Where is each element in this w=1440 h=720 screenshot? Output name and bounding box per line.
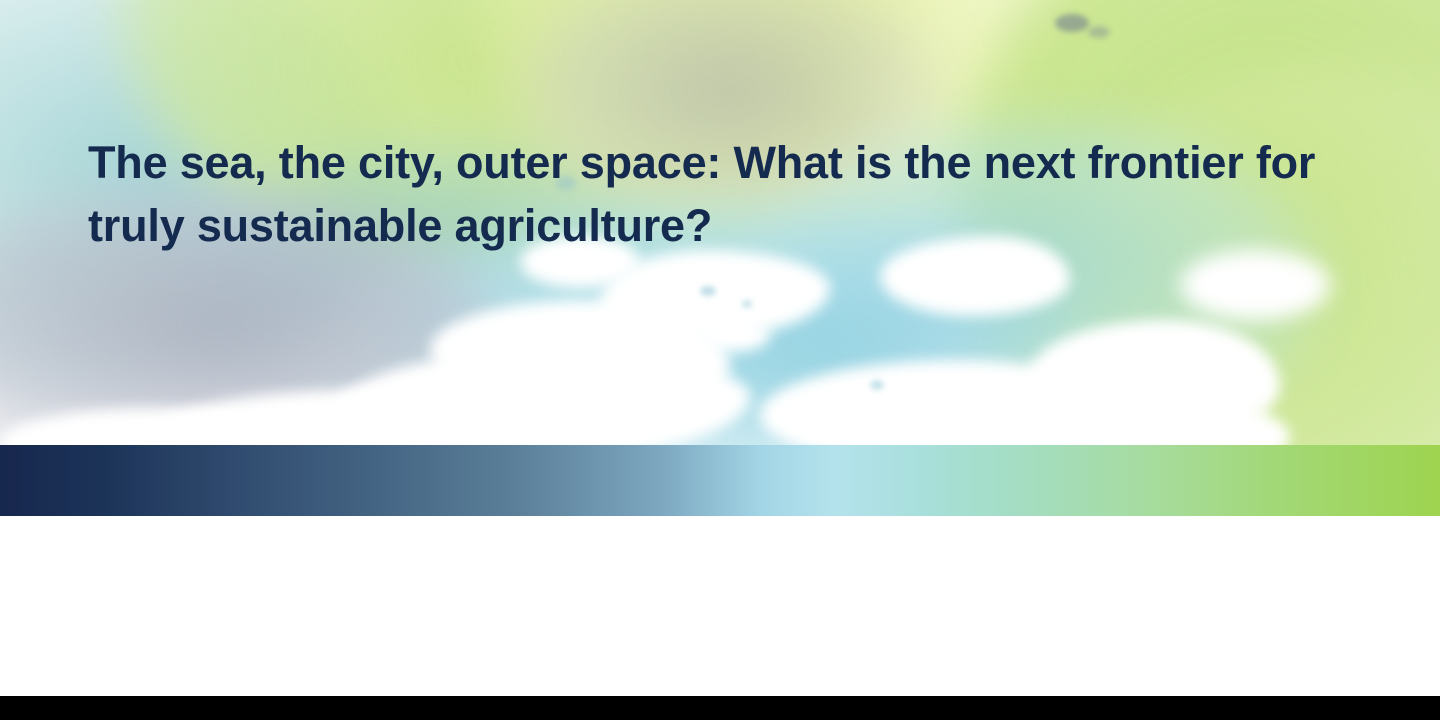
watercolor-splatter bbox=[1180, 250, 1330, 320]
watercolor-speck bbox=[870, 380, 884, 390]
watercolor-speck bbox=[700, 286, 716, 296]
watercolor-speck bbox=[1088, 26, 1110, 38]
logo-footer: leaps BAYER B A E R bbox=[0, 516, 1440, 696]
watercolor-speck bbox=[1055, 14, 1089, 32]
banner-title: The sea, the city, outer space: What is … bbox=[88, 131, 1368, 257]
event-banner: The sea, the city, outer space: What is … bbox=[0, 0, 1440, 720]
watercolor-speck bbox=[742, 300, 752, 308]
gradient-divider-bar bbox=[0, 445, 1440, 516]
watercolor-splatter bbox=[700, 318, 770, 352]
bottom-black-strip bbox=[0, 696, 1440, 720]
